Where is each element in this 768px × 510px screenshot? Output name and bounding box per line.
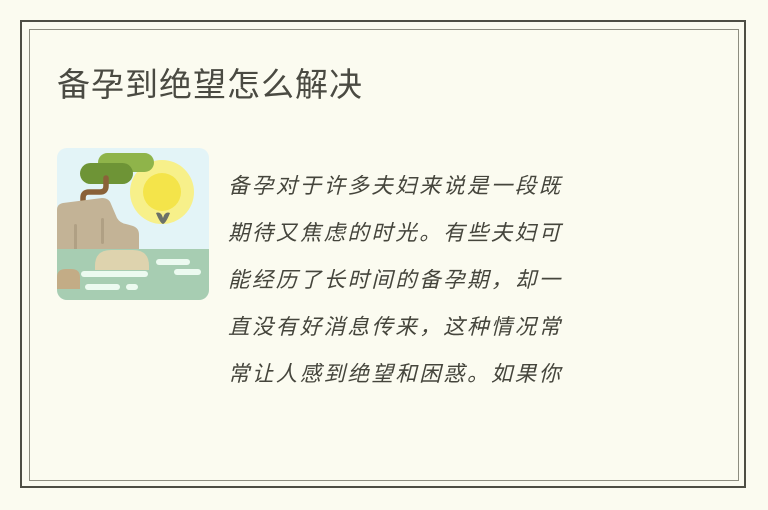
landscape-illustration-svg [57,148,209,300]
foam-line-1 [156,259,190,265]
foam-line-3 [81,271,148,277]
foam-line-2 [174,269,201,275]
cliff-crack-right [101,218,104,244]
body-line: 常让人感到绝望和困惑。如果你 [228,351,648,398]
foam-line-4 [85,284,120,290]
article-body: 备孕对于许多夫妇来说是一段既 期待又焦虑的时光。有些夫妇可 能经历了长时间的备孕… [228,163,648,398]
sun-core-icon [143,173,181,211]
small-rock-shape [57,269,80,289]
foam-line-5 [126,284,138,290]
landscape-illustration [57,148,209,300]
body-line: 备孕对于许多夫妇来说是一段既 [228,163,648,210]
body-line: 能经历了长时间的备孕期，却一 [228,257,648,304]
body-line: 期待又焦虑的时光。有些夫妇可 [228,210,648,257]
page-title: 备孕到绝望怎么解决 [57,63,697,107]
article-card: 备孕到绝望怎么解决 [0,0,768,510]
front-rock-shape [95,250,149,270]
body-line: 直没有好消息传来，这种情况常 [228,304,648,351]
